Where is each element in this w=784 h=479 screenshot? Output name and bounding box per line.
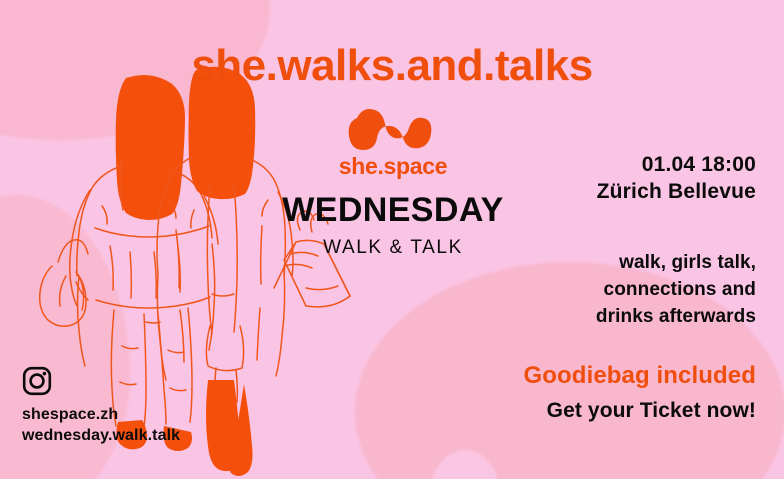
- background-blob-bottom: [430, 450, 500, 479]
- description-line-3: drinks afterwards: [446, 304, 756, 331]
- instagram-handle-secondary[interactable]: wednesday.walk.talk: [22, 425, 180, 446]
- description-line-2: connections and: [446, 277, 756, 304]
- get-ticket-label[interactable]: Get your Ticket now!: [426, 397, 756, 424]
- event-poster: she.walks.and.talks she.space WEDNESDAY …: [0, 0, 784, 479]
- goodiebag-label: Goodiebag included: [426, 360, 756, 391]
- page-title: she.walks.and.talks: [0, 44, 784, 88]
- instagram-handle-primary[interactable]: shespace.zh: [22, 404, 180, 425]
- event-datetime: 01.04 18:00: [456, 152, 756, 179]
- call-to-action: Goodiebag included Get your Ticket now!: [426, 360, 756, 424]
- event-location: Zürich Bellevue: [456, 179, 756, 206]
- event-details: 01.04 18:00 Zürich Bellevue: [456, 152, 756, 206]
- event-description: walk, girls talk, connections and drinks…: [446, 250, 756, 331]
- she-space-wave-logo-icon: [345, 104, 441, 152]
- social-block: shespace.zh wednesday.walk.talk: [22, 366, 180, 447]
- instagram-icon[interactable]: [22, 366, 52, 396]
- description-line-1: walk, girls talk,: [446, 250, 756, 277]
